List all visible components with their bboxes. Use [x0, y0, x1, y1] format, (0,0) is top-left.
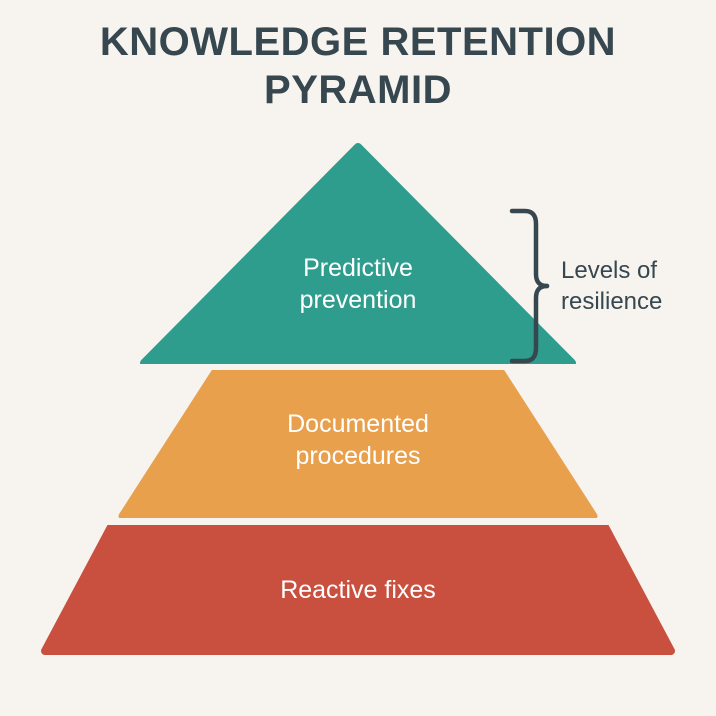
tier-shape-middle[interactable]	[122, 370, 594, 516]
pyramid-tier-reactive-fixes[interactable]	[45, 525, 671, 651]
tier-shape-top[interactable]	[144, 147, 572, 363]
brace-annotation-label: Levels of resilience	[561, 255, 711, 317]
pyramid-tier-documented-procedures[interactable]	[122, 370, 594, 516]
tier-shape-bottom[interactable]	[45, 525, 671, 651]
page-title: KNOWLEDGE RETENTION PYRAMID	[0, 18, 716, 114]
pyramid-tier-predictive-prevention[interactable]	[144, 147, 572, 363]
